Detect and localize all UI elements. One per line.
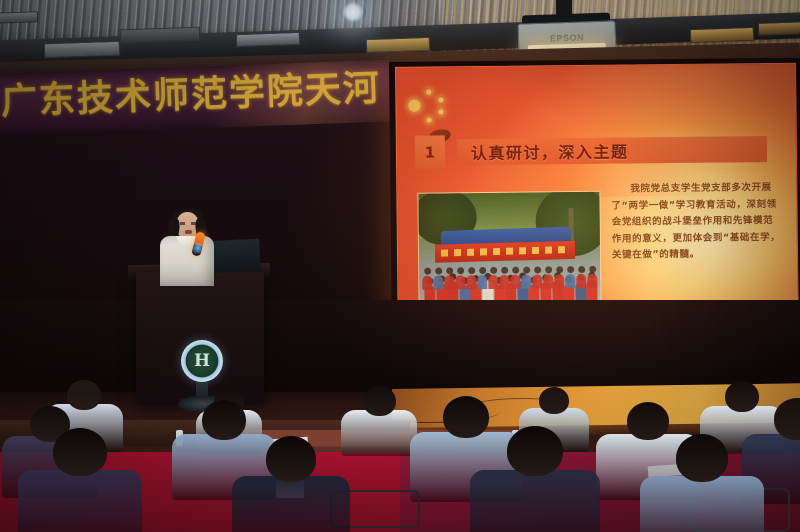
audience-person-head bbox=[507, 426, 563, 476]
photo-person-head bbox=[545, 266, 552, 273]
ceiling-vent bbox=[236, 32, 300, 47]
slide-title-bar: 认真研讨，深入主题 bbox=[457, 136, 767, 165]
photo-person-head bbox=[435, 267, 442, 274]
flag-star-small bbox=[438, 109, 443, 114]
flag-star-large bbox=[408, 100, 420, 112]
ceiling-vent bbox=[366, 37, 430, 53]
flag-star-small bbox=[426, 90, 431, 95]
audience bbox=[0, 392, 800, 532]
microphone-indicator bbox=[190, 242, 206, 254]
photo-person-head bbox=[446, 267, 453, 274]
photo-person-backrow bbox=[444, 275, 454, 289]
photo-person-backrow bbox=[510, 275, 520, 289]
speaker-mouth bbox=[185, 230, 192, 234]
audience-person bbox=[18, 428, 142, 532]
ceiling-vent bbox=[120, 27, 200, 44]
photo-person-head bbox=[490, 267, 497, 274]
photo-person-head bbox=[567, 266, 574, 273]
audience-person-head bbox=[363, 386, 396, 416]
photo-person-head bbox=[578, 266, 585, 273]
audience-person-head bbox=[202, 400, 246, 440]
photo-person-backrow bbox=[488, 275, 498, 289]
photo-person-backrow bbox=[422, 276, 432, 290]
audience-person-head bbox=[676, 434, 728, 482]
slide-title: 认真研讨，深入主题 bbox=[471, 138, 629, 164]
photo-person-backrow bbox=[466, 275, 476, 289]
photo-person-backrow bbox=[532, 274, 542, 288]
speaker-person bbox=[158, 212, 222, 284]
photo-person-head bbox=[479, 267, 486, 274]
photo-person-backrow bbox=[521, 275, 531, 289]
emblem-glyph: H bbox=[194, 353, 210, 370]
audience-person-head bbox=[53, 428, 107, 476]
flag-star-small bbox=[427, 118, 432, 123]
photo-person-head bbox=[534, 266, 541, 273]
audience-person-torso bbox=[18, 470, 142, 532]
ceiling-vent bbox=[44, 41, 120, 59]
audience-person bbox=[470, 426, 600, 532]
auditorium-scene: EPSON 广东技术师范学院天河 1 认真研讨，深入主题 bbox=[0, 0, 800, 532]
ceiling-lamp-icon bbox=[340, 2, 366, 22]
university-emblem: H bbox=[181, 340, 223, 382]
audience-person-torso bbox=[640, 476, 764, 532]
photo-person-head bbox=[468, 267, 475, 274]
speaker-eyes bbox=[180, 222, 196, 225]
audience-person-torso bbox=[341, 410, 417, 456]
emblem-inner: H bbox=[187, 346, 217, 376]
audience-person-torso bbox=[232, 476, 350, 532]
photo-person-backrow bbox=[499, 275, 509, 289]
audience-person-torso bbox=[470, 470, 600, 532]
photo-person-backrow bbox=[477, 275, 487, 289]
photo-person-head bbox=[523, 267, 530, 274]
flag-stars-icon bbox=[408, 83, 498, 132]
photo-person-head bbox=[556, 266, 563, 273]
slide-number-badge: 1 bbox=[415, 135, 445, 168]
photo-person-head bbox=[501, 267, 508, 274]
photo-person-head bbox=[512, 267, 519, 274]
flag-star-small bbox=[438, 97, 443, 102]
photo-person-backrow bbox=[576, 274, 586, 288]
slide-body-text: 我院党总支学生党支部多次开展了“两学一做”学习教育活动，深刻领会党组织的战斗堡垒… bbox=[611, 180, 782, 265]
photo-person-backrow bbox=[565, 274, 575, 288]
photo-person-backrow bbox=[587, 274, 597, 288]
audience-person bbox=[232, 436, 350, 532]
ceiling-vent bbox=[758, 21, 800, 36]
ceiling-vent bbox=[690, 27, 754, 43]
photo-person-backrow bbox=[543, 274, 553, 288]
photo-person-backrow bbox=[455, 275, 465, 289]
audience-person bbox=[341, 386, 417, 462]
ceiling-vent bbox=[0, 11, 38, 24]
audience-person-head bbox=[539, 387, 569, 414]
photo-person-head bbox=[424, 268, 431, 275]
audience-person bbox=[640, 434, 764, 532]
photo-person-backrow bbox=[433, 275, 443, 289]
photo-person-head bbox=[589, 266, 596, 273]
photo-person-backrow bbox=[554, 274, 564, 288]
audience-person-head bbox=[266, 436, 316, 482]
projector-brand-label: EPSON bbox=[550, 32, 584, 43]
photo-person-head bbox=[457, 267, 464, 274]
